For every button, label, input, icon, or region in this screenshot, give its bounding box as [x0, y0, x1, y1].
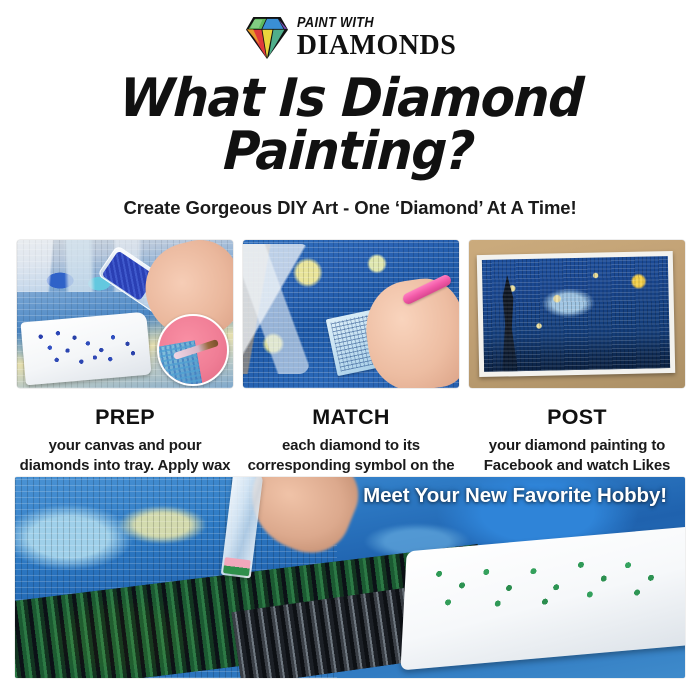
- brand-header: PAINT WITH DIAMONDS: [0, 0, 700, 68]
- prep-wax-pen-inset: [157, 314, 229, 386]
- brand-name: DIAMONDS: [297, 32, 457, 60]
- step-title: PREP: [17, 405, 233, 430]
- hobby-banner-photo: Meet Your New Favorite Hobby!: [15, 477, 685, 678]
- diamond-gem-icon: [244, 17, 290, 59]
- logo[interactable]: PAINT WITH DIAMONDS: [244, 16, 457, 60]
- page-subtitle: Create Gorgeous DIY Art - One ‘Diamond’ …: [0, 197, 700, 219]
- step-post: POST your diamond painting to Facebook a…: [469, 240, 685, 495]
- prep-photo: [17, 240, 233, 388]
- brand-tagline: PAINT WITH: [297, 16, 437, 31]
- banner-headline: Meet Your New Favorite Hobby!: [363, 484, 667, 508]
- page-title: What Is Diamond Painting?: [18, 72, 681, 178]
- step-title: MATCH: [243, 405, 459, 430]
- banner-green-diamond-tray: [400, 526, 685, 671]
- post-starry-night-art: [482, 256, 670, 372]
- step-prep: PREP your canvas and pour diamonds into …: [17, 240, 233, 495]
- prep-tray: [20, 312, 151, 386]
- match-diamond-bags: [243, 244, 309, 374]
- step-title: POST: [469, 405, 685, 430]
- steps-row: PREP your canvas and pour diamonds into …: [0, 240, 700, 495]
- post-finished-canvas: [477, 251, 676, 377]
- post-photo: [469, 240, 685, 388]
- match-photo: [243, 240, 459, 388]
- step-match: MATCH each diamond to its corresponding …: [243, 240, 459, 495]
- post-art-hills: [483, 332, 670, 372]
